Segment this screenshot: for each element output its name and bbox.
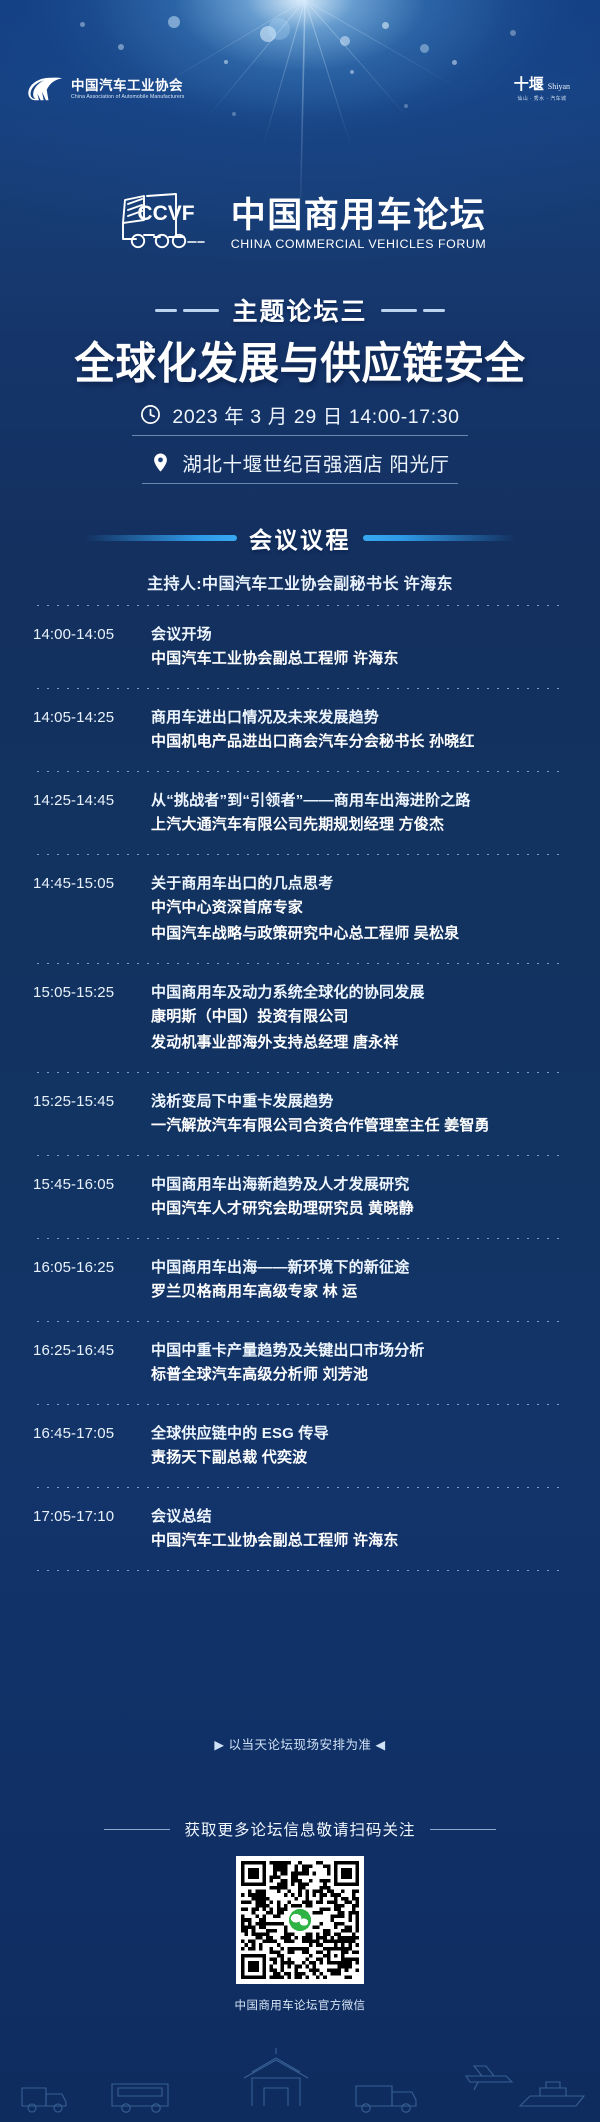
agenda-list: 14:00-14:05会议开场中国汽车工业协会副总工程师 许海东14:05-14…	[33, 605, 567, 1571]
agenda-time: 14:05-14:25	[33, 706, 137, 755]
agenda-time: 16:45-17:05	[33, 1422, 137, 1471]
row-divider	[33, 1404, 567, 1405]
forum-name-en: CHINA COMMERCIAL VEHICLES FORUM	[231, 235, 487, 253]
poster-root: 中国汽车工业协会 China Association of Automobile…	[0, 0, 600, 2122]
dash	[155, 309, 177, 312]
page-title: 全球化发展与供应链安全	[0, 328, 600, 392]
bokeh-dot	[232, 112, 236, 116]
agenda-speaker: 中国汽车战略与政策研究中心总工程师 吴松泉	[151, 921, 567, 947]
row-divider	[33, 1487, 567, 1488]
left-dashes-decoration	[155, 309, 219, 312]
qr-heading: 获取更多论坛信息敬请扫码关注	[184, 1818, 415, 1840]
agenda-time: 14:45-15:05	[33, 872, 137, 947]
agenda-row: 17:05-17:10会议总结中国汽车工业协会副总工程师 许海东	[33, 1488, 567, 1570]
agenda-row: 14:25-14:45从“挑战者”到“引领者”——商用车出海进阶之路上汽大通汽车…	[33, 772, 567, 854]
agenda-row: 14:00-14:05会议开场中国汽车工业协会副总工程师 许海东	[33, 606, 567, 688]
bokeh-dot	[168, 16, 180, 28]
agenda-row: 15:05-15:25中国商用车及动力系统全球化的协同发展康明斯（中国）投资有限…	[33, 964, 567, 1072]
dash	[381, 309, 417, 312]
shiyan-sponsor-logo: 十堰 Shiyan 仙山 · 秀水 · 汽车城	[514, 77, 574, 102]
agenda-speaker: 中国汽车人才研究会助理研究员 黄晓静	[151, 1196, 567, 1222]
agenda-speaker: 发动机事业部海外支持总经理 唐永祥	[151, 1030, 567, 1056]
agenda-topic: 全球供应链中的 ESG 传导	[151, 1422, 567, 1445]
caam-name-cn: 中国汽车工业协会	[71, 78, 185, 93]
agenda-topic: 中国商用车出海新趋势及人才发展研究	[151, 1173, 567, 1196]
event-meta: 2023 年 3 月 29 日 14:00-17:30 湖北十堰世纪百强酒店 阳…	[0, 400, 600, 496]
bokeh-dot	[268, 18, 290, 40]
row-divider	[33, 1072, 567, 1073]
shiyan-name-en: Shiyan	[548, 81, 570, 93]
agenda-title: 会议议程	[249, 521, 351, 555]
dash	[423, 309, 445, 312]
agenda-speaker: 标普全球汽车高级分析师 刘芳池	[151, 1362, 567, 1388]
bokeh-dot	[118, 44, 124, 50]
agenda-topic: 会议总结	[151, 1505, 567, 1528]
qr-code-icon[interactable]	[236, 1856, 364, 1984]
sub-forum-label-row: 主题论坛三	[0, 292, 600, 328]
agenda-row: 14:05-14:25商用车进出口情况及未来发展趋势中国机电产品进出口商会汽车分…	[33, 689, 567, 771]
agenda-topic: 关于商用车出口的几点思考	[151, 872, 567, 895]
location-pin-icon	[150, 452, 171, 473]
agenda-row: 14:45-15:05关于商用车出口的几点思考中汽中心资深首席专家中国汽车战略与…	[33, 855, 567, 963]
agenda-heading-row: 会议议程	[0, 521, 600, 555]
agenda-time: 14:00-14:05	[33, 623, 137, 672]
event-date-row: 2023 年 3 月 29 日 14:00-17:30	[0, 400, 600, 436]
city-skyline-decoration	[0, 2002, 600, 2122]
row-divider	[33, 854, 567, 855]
agenda-speaker: 中国汽车工业协会副总工程师 许海东	[151, 1528, 567, 1554]
agenda-time: 14:25-14:45	[33, 789, 137, 838]
agenda-speaker: 责扬天下副总裁 代奕波	[151, 1445, 567, 1471]
qr-section: 中国商用车论坛官方微信	[0, 1856, 600, 2013]
agenda-speaker: 罗兰贝格商用车高级专家 林 运	[151, 1279, 567, 1305]
agenda-speaker: 中国机电产品进出口商会汽车分会秘书长 孙晓红	[151, 729, 567, 755]
agenda-time: 16:05-16:25	[33, 1256, 137, 1305]
bokeh-dot	[260, 26, 276, 42]
event-location: 湖北十堰世纪百强酒店 阳光厅	[182, 448, 449, 477]
agenda-speaker: 中汽中心资深首席专家	[151, 895, 567, 921]
forum-name-cn: 中国商用车论坛	[231, 197, 487, 235]
agenda-speaker: 中国汽车工业协会副总工程师 许海东	[151, 646, 567, 672]
agenda-speaker: 一汽解放汽车有限公司合资合作管理室主任 姜智勇	[151, 1113, 567, 1139]
bokeh-dot	[404, 104, 408, 108]
shiyan-name-cn: 十堰	[514, 77, 544, 93]
agenda-topic: 会议开场	[151, 623, 567, 646]
bokeh-dot	[350, 70, 354, 74]
agenda-row: 16:45-17:05全球供应链中的 ESG 传导责扬天下副总裁 代奕波	[33, 1405, 567, 1487]
bokeh-dot	[382, 22, 389, 29]
divider-left	[104, 1829, 170, 1830]
agenda-speaker: 康明斯（中国）投资有限公司	[151, 1004, 567, 1030]
agenda-time: 17:05-17:10	[33, 1505, 137, 1554]
row-divider	[33, 963, 567, 964]
agenda-note: ▶ 以当天论坛现场安排为准 ◀	[0, 1734, 600, 1753]
row-divider	[33, 771, 567, 772]
bokeh-dot	[340, 36, 350, 46]
agenda-row: 16:05-16:25中国商用车出海——新环境下的新征途罗兰贝格商用车高级专家 …	[33, 1239, 567, 1321]
agenda-host: 主持人:中国汽车工业协会副秘书长 许海东	[0, 570, 600, 594]
dash	[183, 309, 219, 312]
caam-logo-icon	[26, 76, 64, 102]
row-divider	[33, 1155, 567, 1156]
right-dashes-decoration	[381, 309, 445, 312]
accent-bar-right	[363, 535, 515, 541]
caam-name-en: China Association of Automobile Manufact…	[71, 92, 185, 100]
row-divider	[33, 1321, 567, 1322]
agenda-time: 15:25-15:45	[33, 1090, 137, 1139]
agenda-time: 16:25-16:45	[33, 1339, 137, 1388]
agenda-row: 15:25-15:45浅析变局下中重卡发展趋势一汽解放汽车有限公司合资合作管理室…	[33, 1073, 567, 1155]
row-divider	[33, 688, 567, 689]
bokeh-dot	[510, 30, 516, 36]
agenda-topic: 中国中重卡产量趋势及关键出口市场分析	[151, 1339, 567, 1362]
truck-logo-icon: CCVF	[114, 190, 218, 260]
divider-right	[430, 1829, 496, 1830]
sub-forum-label: 主题论坛三	[232, 292, 367, 328]
agenda-speaker: 上汽大通汽车有限公司先期规划经理 方俊杰	[151, 812, 567, 838]
bokeh-dot	[80, 22, 85, 27]
row-divider	[33, 1238, 567, 1239]
agenda-topic: 中国商用车及动力系统全球化的协同发展	[151, 981, 567, 1004]
qr-code-image	[241, 1861, 359, 1979]
ccvf-logo-block: CCVF 中国商用车论坛 CHINA COMMERCIAL VEHICLES F…	[0, 190, 600, 260]
agenda-topic: 从“挑战者”到“引领者”——商用车出海进阶之路	[151, 789, 567, 812]
ccvf-abbr-text: CCVF	[137, 202, 194, 225]
agenda-topic: 中国商用车出海——新环境下的新征途	[151, 1256, 567, 1279]
agenda-row: 15:45-16:05中国商用车出海新趋势及人才发展研究中国汽车人才研究会助理研…	[33, 1156, 567, 1238]
row-divider	[33, 1570, 567, 1571]
event-date: 2023 年 3 月 29 日 14:00-17:30	[172, 400, 459, 429]
accent-bar-left	[85, 535, 237, 541]
agenda-time: 15:45-16:05	[33, 1173, 137, 1222]
bokeh-dot	[452, 60, 457, 65]
bokeh-dot	[420, 44, 429, 53]
agenda-topic: 浅析变局下中重卡发展趋势	[151, 1090, 567, 1113]
qr-heading-row: 获取更多论坛信息敬请扫码关注	[0, 1818, 600, 1840]
row-divider	[33, 605, 567, 606]
agenda-topic: 商用车进出口情况及未来发展趋势	[151, 706, 567, 729]
clock-icon	[140, 404, 161, 425]
agenda-row: 16:25-16:45中国中重卡产量趋势及关键出口市场分析标普全球汽车高级分析师…	[33, 1322, 567, 1404]
sponsor-row: 中国汽车工业协会 China Association of Automobile…	[0, 76, 600, 102]
shiyan-tagline: 仙山 · 秀水 · 汽车城	[514, 95, 570, 102]
caam-sponsor-logo: 中国汽车工业协会 China Association of Automobile…	[26, 76, 185, 102]
agenda-time: 15:05-15:25	[33, 981, 137, 1056]
event-location-row: 湖北十堰世纪百强酒店 阳光厅	[0, 448, 600, 484]
bokeh-dot	[224, 60, 228, 64]
